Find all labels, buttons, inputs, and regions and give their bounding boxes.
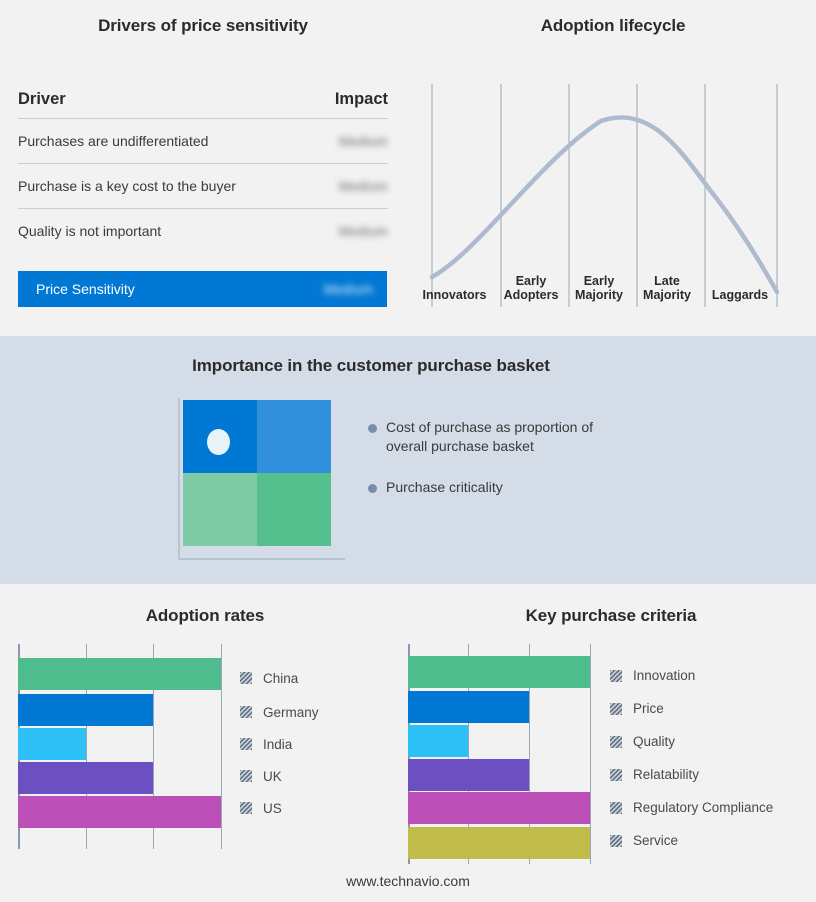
legend-label: Innovation — [633, 668, 695, 683]
gridline — [590, 644, 591, 864]
quadrant-y-axis — [178, 398, 180, 558]
bar-uk — [18, 762, 153, 794]
drivers-table: Driver Impact Purchases are undifferenti… — [18, 90, 388, 253]
hatched-swatch-icon — [610, 769, 622, 781]
footer-url: www.technavio.com — [0, 873, 816, 889]
quadrant-cell-top-right — [257, 400, 331, 473]
impact-value: Medium — [339, 134, 388, 149]
legend-label: Purchase criticality — [386, 478, 503, 497]
adoption-rates-chart: China Germany India UK US — [18, 644, 398, 849]
lifecycle-curve — [432, 117, 777, 292]
bar-regulatory-compliance — [408, 792, 590, 824]
hatched-swatch-icon — [610, 802, 622, 814]
legend-item: Price — [610, 692, 773, 725]
basket-legend: Cost of purchase as proportion of overal… — [368, 418, 668, 519]
hatched-swatch-icon — [610, 703, 622, 715]
bar-us — [18, 796, 221, 828]
quadrant-cell-top-left — [183, 400, 257, 473]
gridline — [221, 644, 222, 849]
legend-item: Cost of purchase as proportion of overal… — [368, 418, 668, 456]
quadrant-position-marker — [207, 429, 230, 455]
hatched-swatch-icon — [610, 835, 622, 847]
legend-label: Service — [633, 833, 678, 848]
summary-label: Price Sensitivity — [36, 281, 135, 297]
legend-item: India — [240, 728, 319, 760]
bullet-icon — [368, 484, 377, 493]
quadrant-cell-bottom-right — [257, 473, 331, 546]
adoption-rates-title: Adoption rates — [0, 606, 410, 626]
bar-relatability — [408, 759, 529, 791]
legend-label: Price — [633, 701, 664, 716]
hatched-swatch-icon — [240, 738, 252, 750]
hatched-swatch-icon — [240, 672, 252, 684]
bar-quality — [408, 725, 468, 757]
column-header-impact: Impact — [335, 90, 388, 109]
impact-value: Medium — [339, 224, 388, 239]
legend-item: Service — [610, 824, 773, 857]
legend-item: Relatability — [610, 758, 773, 791]
lifecycle-stage-label-laggards: Laggards — [702, 288, 778, 302]
column-header-driver: Driver — [18, 90, 66, 109]
impact-value: Medium — [339, 179, 388, 194]
lifecycle-stage-label-innovators: Innovators — [407, 288, 502, 302]
driver-label: Purchases are undifferentiated — [18, 133, 208, 149]
bar-india — [18, 728, 86, 760]
basket-panel-title: Importance in the customer purchase bask… — [0, 356, 742, 376]
legend-label: UK — [263, 769, 282, 784]
key-purchase-criteria-title: Key purchase criteria — [406, 606, 816, 626]
table-header-row: Driver Impact — [18, 90, 388, 118]
driver-label: Quality is not important — [18, 223, 161, 239]
legend-label: Germany — [263, 705, 319, 720]
bar-service — [408, 827, 590, 859]
adoption-lifecycle-chart: Innovators Early Adopters Early Majority… — [410, 0, 816, 336]
bar-price — [408, 691, 529, 723]
hatched-swatch-icon — [610, 670, 622, 682]
legend-label: US — [263, 801, 282, 816]
legend-label: Cost of purchase as proportion of overal… — [386, 418, 636, 456]
lifecycle-stage-label-late-majority: Late Majority — [630, 274, 704, 302]
lifecycle-stage-label-early-majority: Early Majority — [562, 274, 636, 302]
hatched-swatch-icon — [240, 802, 252, 814]
legend-label: India — [263, 737, 292, 752]
summary-impact-value: Medium — [324, 282, 373, 297]
legend-item: Purchase criticality — [368, 478, 668, 497]
quadrant-x-axis — [178, 558, 345, 560]
driver-label: Purchase is a key cost to the buyer — [18, 178, 236, 194]
legend-label: Relatability — [633, 767, 699, 782]
legend-item: US — [240, 792, 319, 824]
legend-item: Regulatory Compliance — [610, 791, 773, 824]
bar-china — [18, 658, 221, 690]
legend-item: Quality — [610, 725, 773, 758]
legend-label: Regulatory Compliance — [633, 800, 773, 815]
key-purchase-criteria-legend: Innovation Price Quality Relatability Re… — [610, 659, 773, 857]
table-row: Purchases are undifferentiated Medium — [18, 118, 388, 163]
purchase-basket-quadrant — [183, 400, 331, 546]
quadrant-cell-bottom-left — [183, 473, 257, 546]
adoption-rates-legend: China Germany India UK US — [240, 662, 319, 824]
bar-innovation — [408, 656, 590, 688]
bullet-icon — [368, 424, 377, 433]
legend-label: China — [263, 671, 298, 686]
table-row: Quality is not important Medium — [18, 208, 388, 253]
legend-item: Germany — [240, 696, 319, 728]
legend-item: China — [240, 662, 319, 694]
hatched-swatch-icon — [240, 770, 252, 782]
legend-label: Quality — [633, 734, 675, 749]
table-row: Purchase is a key cost to the buyer Medi… — [18, 163, 388, 208]
bar-germany — [18, 694, 153, 726]
infographic-page: Drivers of price sensitivity Driver Impa… — [0, 0, 816, 902]
hatched-swatch-icon — [240, 706, 252, 718]
legend-item: Innovation — [610, 659, 773, 692]
lifecycle-stage-label-early-adopters: Early Adopters — [494, 274, 568, 302]
drivers-panel-title: Drivers of price sensitivity — [18, 16, 388, 36]
price-sensitivity-summary-row: Price Sensitivity Medium — [18, 271, 387, 307]
hatched-swatch-icon — [610, 736, 622, 748]
legend-item: UK — [240, 760, 319, 792]
key-purchase-criteria-chart: Innovation Price Quality Relatability Re… — [408, 644, 808, 864]
